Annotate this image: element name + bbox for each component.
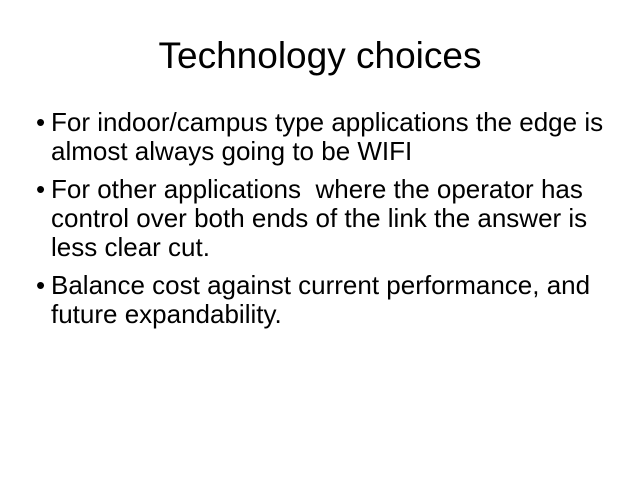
list-item[interactable]: • Balance cost against current performan… (30, 271, 620, 329)
slide-canvas: Technology choices • For indoor/campus t… (0, 0, 640, 480)
list-item[interactable]: • For other applications where the opera… (30, 175, 620, 262)
bullet-point-icon: • (30, 108, 51, 137)
list-item-text: For indoor/campus type applications the … (51, 108, 620, 166)
list-item-text: Balance cost against current performance… (51, 271, 620, 329)
bullet-list: • For indoor/campus type applications th… (30, 108, 620, 329)
bullet-point-icon: • (30, 271, 51, 300)
list-item-text: For other applications where the operato… (51, 175, 620, 262)
bullet-point-icon: • (30, 175, 51, 204)
list-item[interactable]: • For indoor/campus type applications th… (30, 108, 620, 166)
page-title: Technology choices (0, 34, 640, 78)
